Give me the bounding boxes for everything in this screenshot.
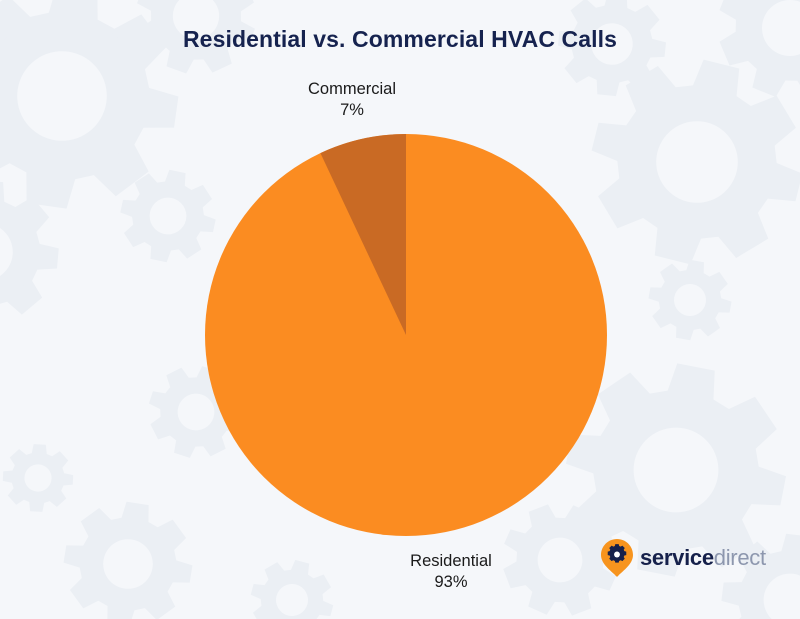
logo-wordmark: servicedirect <box>640 547 766 570</box>
map-pin-gear-icon <box>601 539 633 577</box>
pie-chart <box>205 134 607 536</box>
logo-word-service: service <box>640 545 714 570</box>
pie-label-residential: Residential 93% <box>361 551 541 593</box>
page-title: Residential vs. Commercial HVAC Calls <box>0 26 800 53</box>
pie-label-commercial-value: 7% <box>262 100 442 121</box>
pie-label-residential-name: Residential <box>361 551 541 572</box>
chart-canvas: Residential vs. Commercial HVAC Calls Co… <box>0 0 800 619</box>
pie-label-commercial-name: Commercial <box>262 79 442 100</box>
pie-label-commercial: Commercial 7% <box>262 79 442 121</box>
logo-word-direct: direct <box>714 545 766 570</box>
pie-label-residential-value: 93% <box>361 572 541 593</box>
service-direct-logo[interactable]: servicedirect <box>601 538 766 578</box>
